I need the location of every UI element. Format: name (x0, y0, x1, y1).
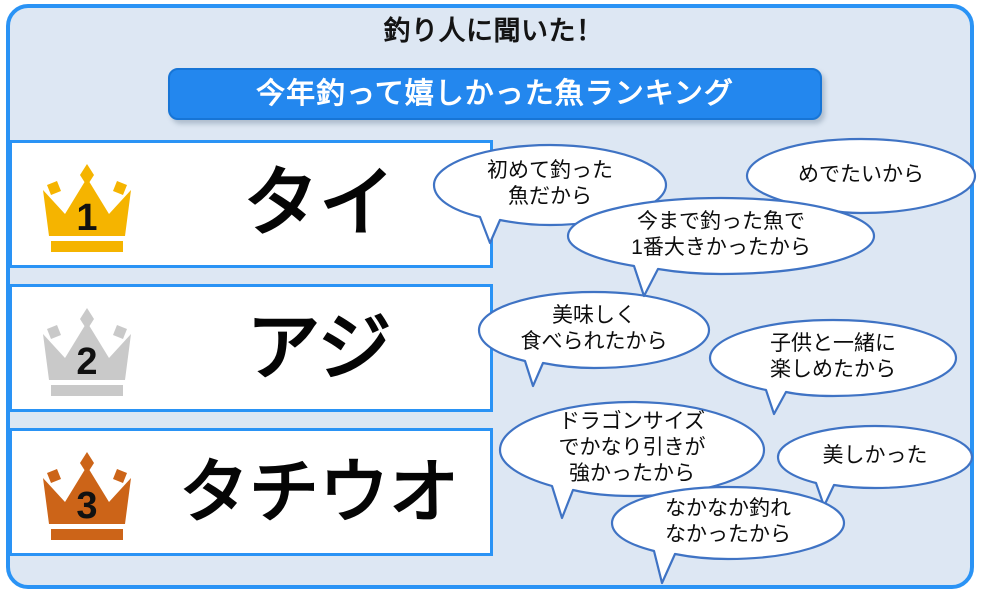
fish-name: タチウオ (162, 457, 490, 527)
infographic-root: 釣り人に聞いた！ 今年釣って嬉しかった魚ランキング 1 タイ (0, 0, 987, 600)
rank-row: 1 タイ (9, 140, 493, 268)
svg-text:1: 1 (76, 197, 97, 239)
crown-icon: 2 (12, 298, 162, 398)
comment-bubble: 美しかった (776, 424, 974, 490)
crown-icon: 1 (12, 154, 162, 254)
rank-row: 3 タチウオ (9, 428, 493, 556)
fish-name: アジ (162, 311, 490, 385)
comment-bubble: 美味しく 食べられたから (477, 290, 711, 370)
svg-text:3: 3 (76, 485, 97, 527)
comment-bubble: ドラゴンサイズ でかなり引きが 強かったから (498, 400, 766, 498)
title-banner-label: 今年釣って嬉しかった魚ランキング (256, 80, 734, 109)
comment-bubble: なかなか釣れ なかったから (610, 485, 846, 563)
comment-bubble: 子供と一緒に 楽しめたから (708, 318, 958, 398)
crown-icon: 3 (12, 442, 162, 542)
kicker-heading: 釣り人に聞いた！ (0, 18, 987, 45)
rank-row: 2 アジ (9, 284, 493, 412)
comment-bubble: 今まで釣った魚で 1番大きかったから (566, 196, 876, 276)
title-banner: 今年釣って嬉しかった魚ランキング (168, 68, 822, 120)
svg-text:2: 2 (76, 341, 97, 383)
